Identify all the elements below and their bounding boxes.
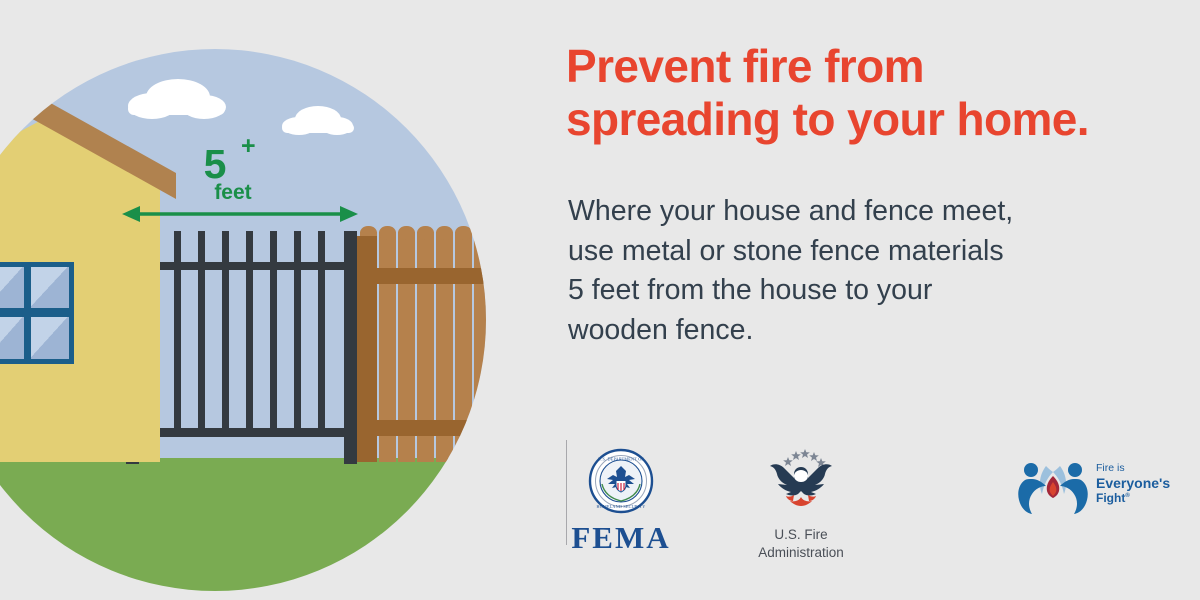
feef-figures-icon: [1016, 454, 1090, 514]
gate-rail-top: [128, 262, 356, 270]
usfa-eagle-head: [794, 470, 808, 482]
feef-line-2: Everyone's: [1096, 475, 1170, 492]
feef-figure-right-body: [1060, 479, 1088, 514]
fema-wordmark: FEMA: [566, 522, 676, 553]
usfa-stars: [783, 449, 826, 467]
feef-line-1: Fire is: [1096, 462, 1170, 474]
usfa-line-1: U.S. Fire: [774, 527, 827, 542]
content-panel: Prevent fire from spreading to your home…: [566, 0, 1200, 600]
infographic-canvas: 5 + feet Prevent fire from spreading to …: [0, 0, 1200, 600]
feef-figure-left-head: [1024, 463, 1038, 477]
house-window: [0, 262, 74, 364]
gate-rail-bottom: [128, 428, 356, 437]
body-line-2: use metal or stone fence materials: [568, 232, 1168, 272]
feef-fight-text: Fight: [1096, 491, 1125, 505]
grass-ground: [0, 458, 540, 600]
yard-scene-illustration: 5 + feet: [0, 0, 540, 600]
usfa-eagle-icon: [758, 445, 844, 517]
measure-superscript: +: [241, 132, 256, 160]
usfa-line-2: Administration: [758, 545, 844, 560]
logo-strip: U.S. DEPARTMENT OF HOMELAND SECURITY FEM…: [566, 440, 1200, 565]
feef-line-3: Fight®: [1096, 491, 1170, 505]
fire-is-everyones-fight-logo: Fire is Everyone's Fight®: [1016, 454, 1186, 514]
fema-logo: U.S. DEPARTMENT OF HOMELAND SECURITY FEM…: [566, 448, 676, 553]
dhs-seal-text-bottom: HOMELAND SECURITY: [597, 504, 646, 509]
headline-line-1: Prevent fire from: [566, 40, 1166, 93]
fence-end-post: [355, 236, 377, 462]
body-line-3: 5 feet from the house to your: [568, 271, 1168, 311]
gate-post-right: [344, 231, 357, 464]
dhs-seal-icon: U.S. DEPARTMENT OF HOMELAND SECURITY: [588, 448, 654, 514]
page-title: Prevent fire from spreading to your home…: [566, 40, 1166, 147]
body-copy: Where your house and fence meet, use met…: [568, 192, 1168, 350]
usfa-flame-icon: [786, 495, 816, 506]
fence-rail-top: [356, 268, 516, 284]
illustration-panel: 5 + feet: [0, 0, 540, 600]
feef-figure-left-body: [1018, 479, 1046, 514]
feef-figure-right-head: [1068, 463, 1082, 477]
body-line-4: wooden fence.: [568, 311, 1168, 351]
headline-line-2: spreading to your home.: [566, 93, 1166, 146]
fence-rail-bottom: [356, 420, 516, 436]
usfa-logo: U.S. Fire Administration: [736, 445, 866, 562]
registered-mark: ®: [1125, 493, 1129, 499]
feef-wordmark: Fire is Everyone's Fight®: [1096, 462, 1170, 505]
dhs-seal-text-top: U.S. DEPARTMENT OF: [598, 457, 644, 462]
usfa-wordmark: U.S. Fire Administration: [736, 526, 866, 562]
measure-unit: feet: [214, 181, 251, 204]
body-line-1: Where your house and fence meet,: [568, 192, 1168, 232]
scene-contents: [0, 40, 540, 600]
